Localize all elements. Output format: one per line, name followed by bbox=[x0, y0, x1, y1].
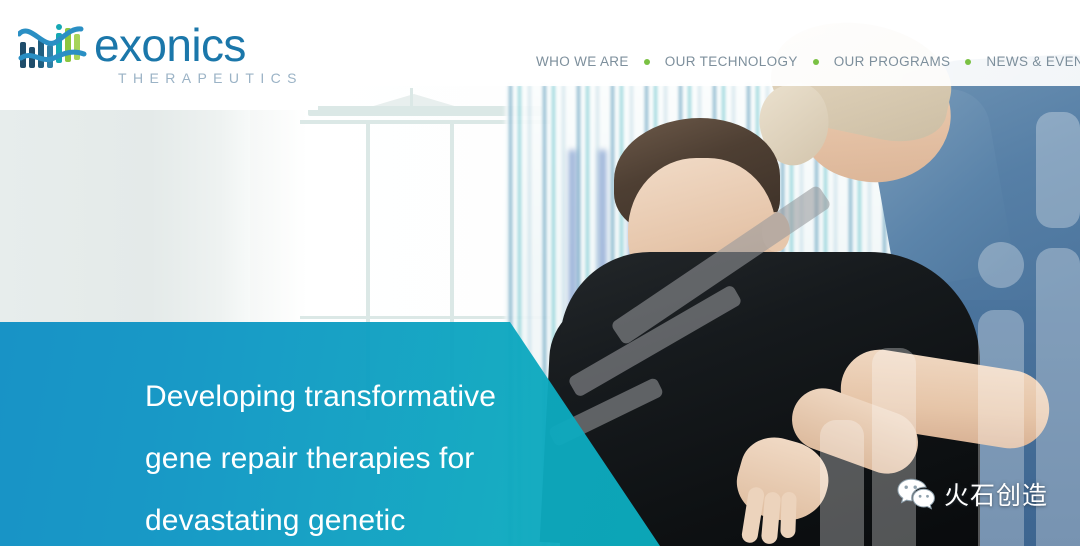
wechat-icon bbox=[896, 477, 936, 511]
wechat-watermark: 火石创造 bbox=[896, 476, 1048, 512]
exonics-bars-dna-logo-icon bbox=[18, 20, 90, 72]
watermark-bar bbox=[1036, 112, 1080, 228]
site-header: exonics THERAPEUTICS WHO WE ARE OUR TECH… bbox=[0, 0, 1080, 86]
wechat-account-name: 火石创造 bbox=[944, 476, 1048, 512]
nav-item-who-we-are[interactable]: WHO WE ARE bbox=[534, 54, 631, 69]
window-spike bbox=[410, 88, 413, 106]
site-logo-link[interactable]: exonics THERAPEUTICS bbox=[18, 18, 308, 88]
nav-separator-dot-icon bbox=[965, 59, 971, 65]
nav-item-our-technology[interactable]: OUR TECHNOLOGY bbox=[663, 54, 800, 69]
watermark-dot bbox=[978, 242, 1024, 288]
watermark-bar bbox=[820, 420, 864, 546]
main-navigation[interactable]: WHO WE ARE OUR TECHNOLOGY OUR PROGRAMS N… bbox=[534, 54, 1080, 69]
watermark-bar bbox=[872, 348, 916, 546]
brand-tagline: THERAPEUTICS bbox=[118, 70, 303, 86]
nav-separator-dot-icon bbox=[644, 59, 650, 65]
nav-item-our-programs[interactable]: OUR PROGRAMS bbox=[832, 54, 953, 69]
page-root: Developing transformative gene repair th… bbox=[0, 0, 1080, 546]
nav-item-news-and-events[interactable]: NEWS & EVENTS bbox=[984, 54, 1080, 69]
brand-wordmark: exonics bbox=[94, 20, 246, 70]
nav-separator-dot-icon bbox=[813, 59, 819, 65]
hero-headline: Developing transformative gene repair th… bbox=[145, 366, 575, 546]
